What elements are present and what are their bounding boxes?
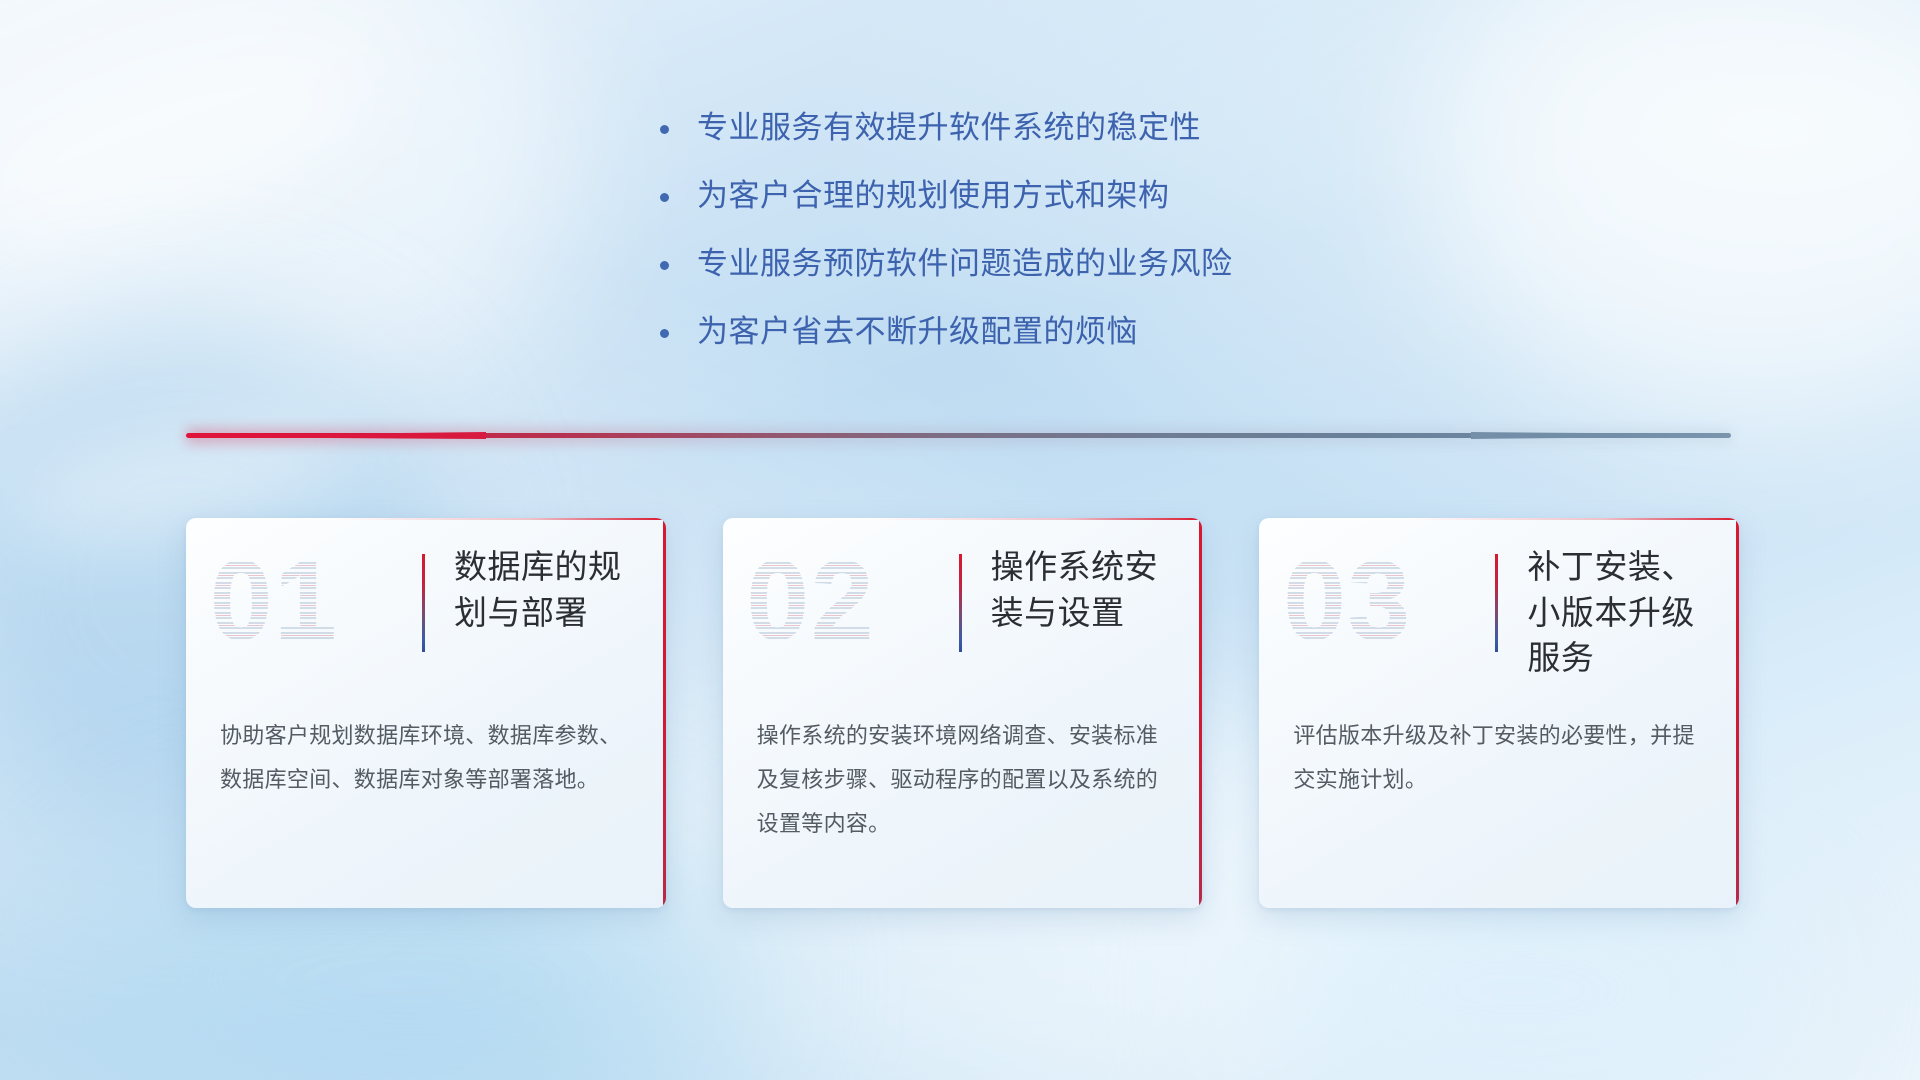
background-glow-top-right: [1440, 0, 1920, 420]
card-number-watermark-tint: 02: [747, 542, 947, 660]
service-card-02[interactable]: 02 02 操作系统安装与设置 操作系统的安装环境网络调查、安装标准及复核步骤、…: [723, 518, 1203, 908]
bullet-text: 专业服务预防软件问题造成的业务风险: [697, 244, 1233, 285]
bullet-item: 专业服务有效提升软件系统的稳定性: [660, 108, 1420, 149]
background-glow-top-left: [0, 0, 580, 440]
background-streak-upper: [0, 0, 394, 281]
card-header: 02 02 操作系统安装与设置: [723, 518, 1203, 690]
card-title-rule: [959, 554, 962, 652]
benefit-bullet-list: 专业服务有效提升软件系统的稳定性 为客户合理的规划使用方式和架构 专业服务预防软…: [660, 108, 1420, 380]
bullet-text: 专业服务有效提升软件系统的稳定性: [697, 108, 1201, 149]
bullet-item: 专业服务预防软件问题造成的业务风险: [660, 244, 1420, 285]
bullet-item: 为客户省去不断升级配置的烦恼: [660, 312, 1420, 353]
card-header: 01 01 数据库的规划与部署: [186, 518, 666, 690]
card-title: 数据库的规划与部署: [454, 544, 650, 635]
card-header: 03 03 补丁安装、小版本升级服务: [1259, 518, 1739, 690]
bullet-text: 为客户省去不断升级配置的烦恼: [697, 312, 1138, 353]
card-body-text: 评估版本升级及补丁安装的必要性，并提交实施计划。: [1293, 714, 1705, 802]
card-number-watermark-tint: 03: [1283, 542, 1483, 660]
service-card-01[interactable]: 01 01 数据库的规划与部署 协助客户规划数据库环境、数据库参数、数据库空间、…: [186, 518, 666, 908]
card-title: 操作系统安装与设置: [991, 544, 1187, 635]
bullet-item: 为客户合理的规划使用方式和架构: [660, 176, 1420, 217]
bullet-dot-icon: [660, 125, 669, 134]
card-body-text: 操作系统的安装环境网络调查、安装标准及复核步骤、驱动程序的配置以及系统的设置等内…: [757, 714, 1169, 846]
bullet-dot-icon: [660, 261, 669, 270]
service-card-03[interactable]: 03 03 补丁安装、小版本升级服务 评估版本升级及补丁安装的必要性，并提交实施…: [1259, 518, 1739, 908]
bullet-dot-icon: [660, 193, 669, 202]
card-number-watermark-tint: 01: [210, 542, 410, 660]
card-title: 补丁安装、小版本升级服务: [1527, 544, 1723, 681]
slide-root: 专业服务有效提升软件系统的稳定性 为客户合理的规划使用方式和架构 专业服务预防软…: [0, 0, 1920, 1080]
card-body-text: 协助客户规划数据库环境、数据库参数、数据库空间、数据库对象等部署落地。: [220, 714, 632, 802]
bullet-dot-icon: [660, 329, 669, 338]
section-divider: [186, 428, 1731, 444]
bullet-text: 为客户合理的规划使用方式和架构: [697, 176, 1170, 217]
card-title-rule: [1495, 554, 1498, 652]
card-title-rule: [422, 554, 425, 652]
service-card-group: 01 01 数据库的规划与部署 协助客户规划数据库环境、数据库参数、数据库空间、…: [186, 518, 1739, 908]
